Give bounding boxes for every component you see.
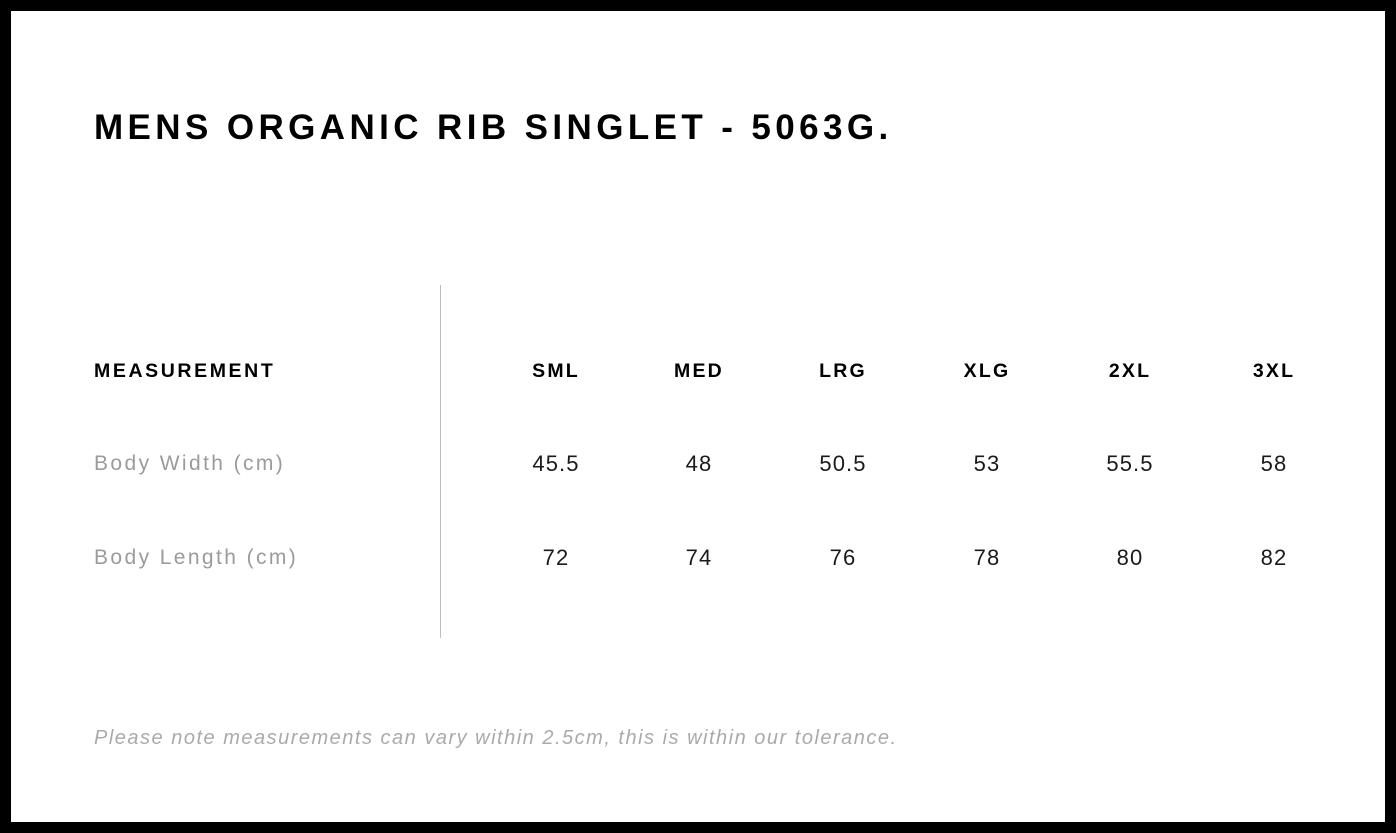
column-header-3xl: 3XL bbox=[1209, 351, 1339, 391]
cell-body-width-xlg: 53 bbox=[922, 444, 1052, 484]
cell-body-length-lrg: 76 bbox=[778, 538, 908, 578]
table-header-row: MEASUREMENT SML MED LRG XLG 2XL 3XL bbox=[11, 351, 1385, 391]
cell-body-length-med: 74 bbox=[634, 538, 764, 578]
row-label-body-width: Body Width (cm) bbox=[94, 444, 285, 484]
cell-body-width-2xl: 55.5 bbox=[1065, 444, 1195, 484]
cell-body-width-lrg: 50.5 bbox=[778, 444, 908, 484]
column-header-sml: SML bbox=[491, 351, 621, 391]
column-header-2xl: 2XL bbox=[1065, 351, 1195, 391]
column-header-lrg: LRG bbox=[778, 351, 908, 391]
column-header-measurement: MEASUREMENT bbox=[94, 351, 275, 391]
size-chart-page: MENS ORGANIC RIB SINGLET - 5063G. MEASUR… bbox=[11, 11, 1385, 822]
cell-body-length-2xl: 80 bbox=[1065, 538, 1195, 578]
column-header-xlg: XLG bbox=[922, 351, 1052, 391]
cell-body-width-sml: 45.5 bbox=[491, 444, 621, 484]
column-header-med: MED bbox=[634, 351, 764, 391]
cell-body-width-3xl: 58 bbox=[1209, 444, 1339, 484]
cell-body-length-3xl: 82 bbox=[1209, 538, 1339, 578]
cell-body-width-med: 48 bbox=[634, 444, 764, 484]
table-row: Body Width (cm) 45.5 48 50.5 53 55.5 58 bbox=[11, 444, 1385, 484]
cell-body-length-xlg: 78 bbox=[922, 538, 1052, 578]
table-row: Body Length (cm) 72 74 76 78 80 82 bbox=[11, 538, 1385, 578]
tolerance-note: Please note measurements can vary within… bbox=[94, 727, 898, 750]
cell-body-length-sml: 72 bbox=[491, 538, 621, 578]
size-chart-table: MEASUREMENT SML MED LRG XLG 2XL 3XL Body… bbox=[11, 11, 1385, 822]
black-frame-border: MENS ORGANIC RIB SINGLET - 5063G. MEASUR… bbox=[0, 0, 1396, 833]
row-label-body-length: Body Length (cm) bbox=[94, 538, 298, 578]
